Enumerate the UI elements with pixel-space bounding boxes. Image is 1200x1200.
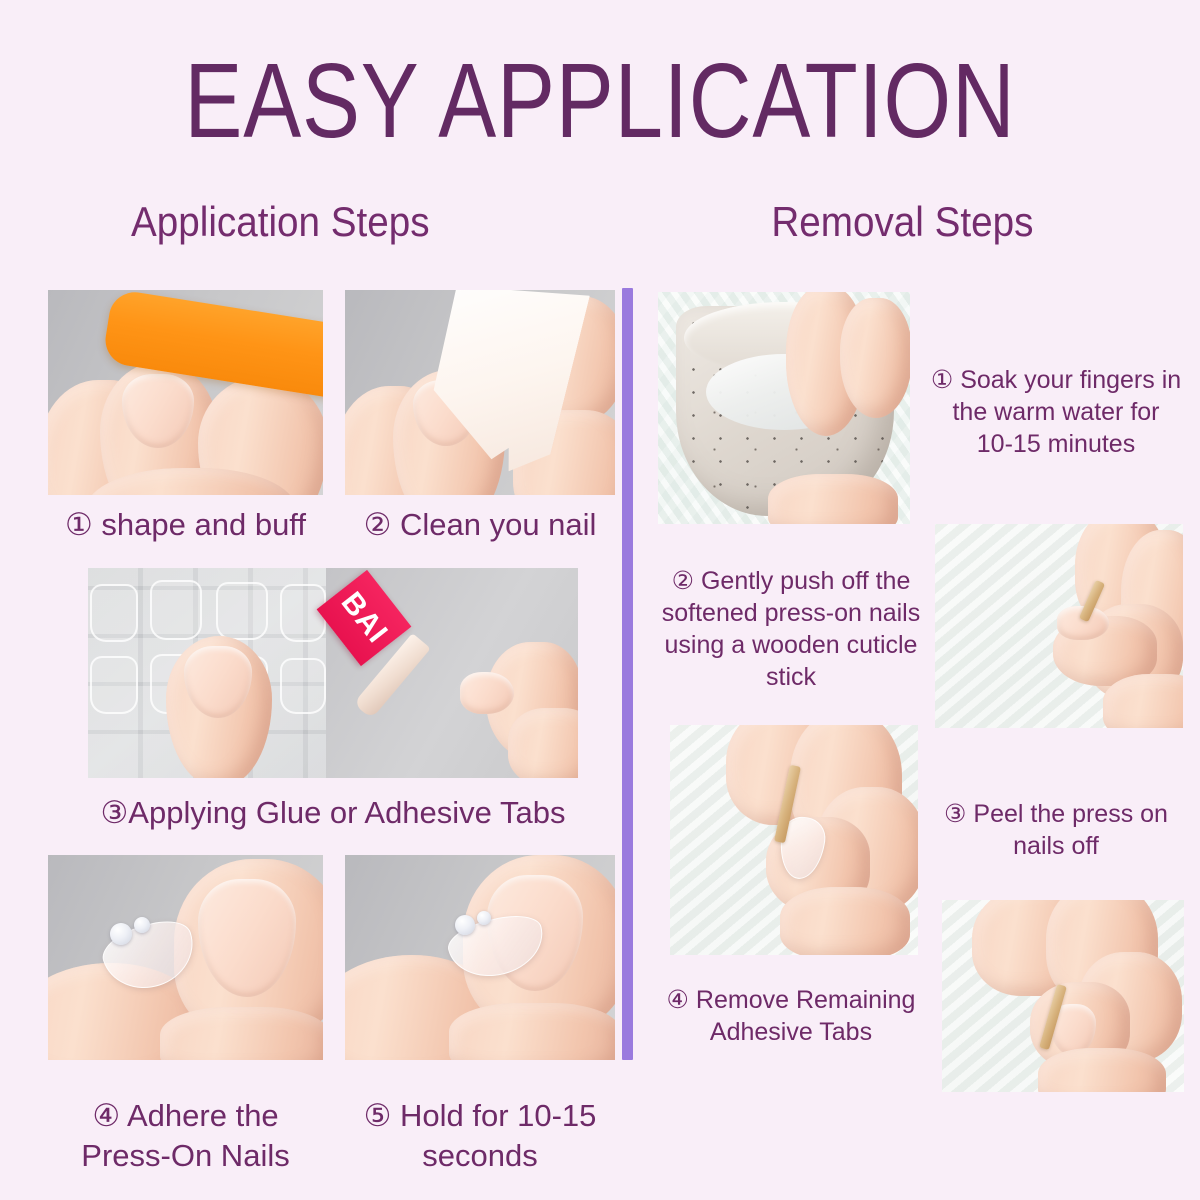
caption-rem-3-line2: nails off (930, 830, 1182, 862)
caption-rem-4-line2: Adhesive Tabs (660, 1016, 922, 1048)
caption-app-3: ③Applying Glue or Adhesive Tabs (68, 793, 598, 833)
photo-soak-fingers (658, 292, 910, 524)
caption-rem-1-line3: 10-15 minutes (925, 428, 1187, 460)
page-title: EASY APPLICATION (108, 48, 1092, 154)
caption-rem-2-line3: using a wooden cuticle (660, 629, 922, 661)
caption-rem-2-line2: softened press-on nails (660, 597, 922, 629)
photo-hold-for-seconds (345, 855, 615, 1060)
caption-rem-1-line2: the warm water for (925, 396, 1187, 428)
caption-app-2: ② Clean you nail (340, 505, 620, 545)
caption-rem-1-line1: ① Soak your fingers in (925, 364, 1187, 396)
application-steps-heading: Application Steps (131, 198, 430, 246)
caption-rem-2-line1: ② Gently push off the (660, 565, 922, 597)
caption-app-5-line2: seconds (340, 1136, 620, 1176)
photo-applying-glue-or-tabs: BAI (88, 568, 578, 778)
column-divider (622, 288, 633, 1060)
caption-app-4-line2: Press-On Nails (48, 1136, 323, 1176)
removal-steps-heading: Removal Steps (771, 198, 1033, 246)
caption-app-1: ① shape and buff (48, 505, 323, 545)
photo-push-off-with-cuticle-stick (935, 524, 1183, 728)
caption-rem-2-line4: stick (660, 661, 922, 693)
caption-rem-4-line1: ④ Remove Remaining (660, 984, 922, 1016)
photo-adhere-press-on-nails (48, 855, 323, 1060)
caption-app-4-line1: ④ Adhere the (48, 1096, 323, 1136)
infographic-page: EASY APPLICATION Application Steps Remov… (0, 0, 1200, 1200)
photo-remove-adhesive-tabs (942, 900, 1184, 1092)
caption-app-5-line1: ⑤ Hold for 10-15 (340, 1096, 620, 1136)
caption-rem-3-line1: ③ Peel the press on (930, 798, 1182, 830)
photo-shape-and-buff (48, 290, 323, 495)
photo-clean-your-nail (345, 290, 615, 495)
photo-peel-press-on-nails (670, 725, 918, 955)
